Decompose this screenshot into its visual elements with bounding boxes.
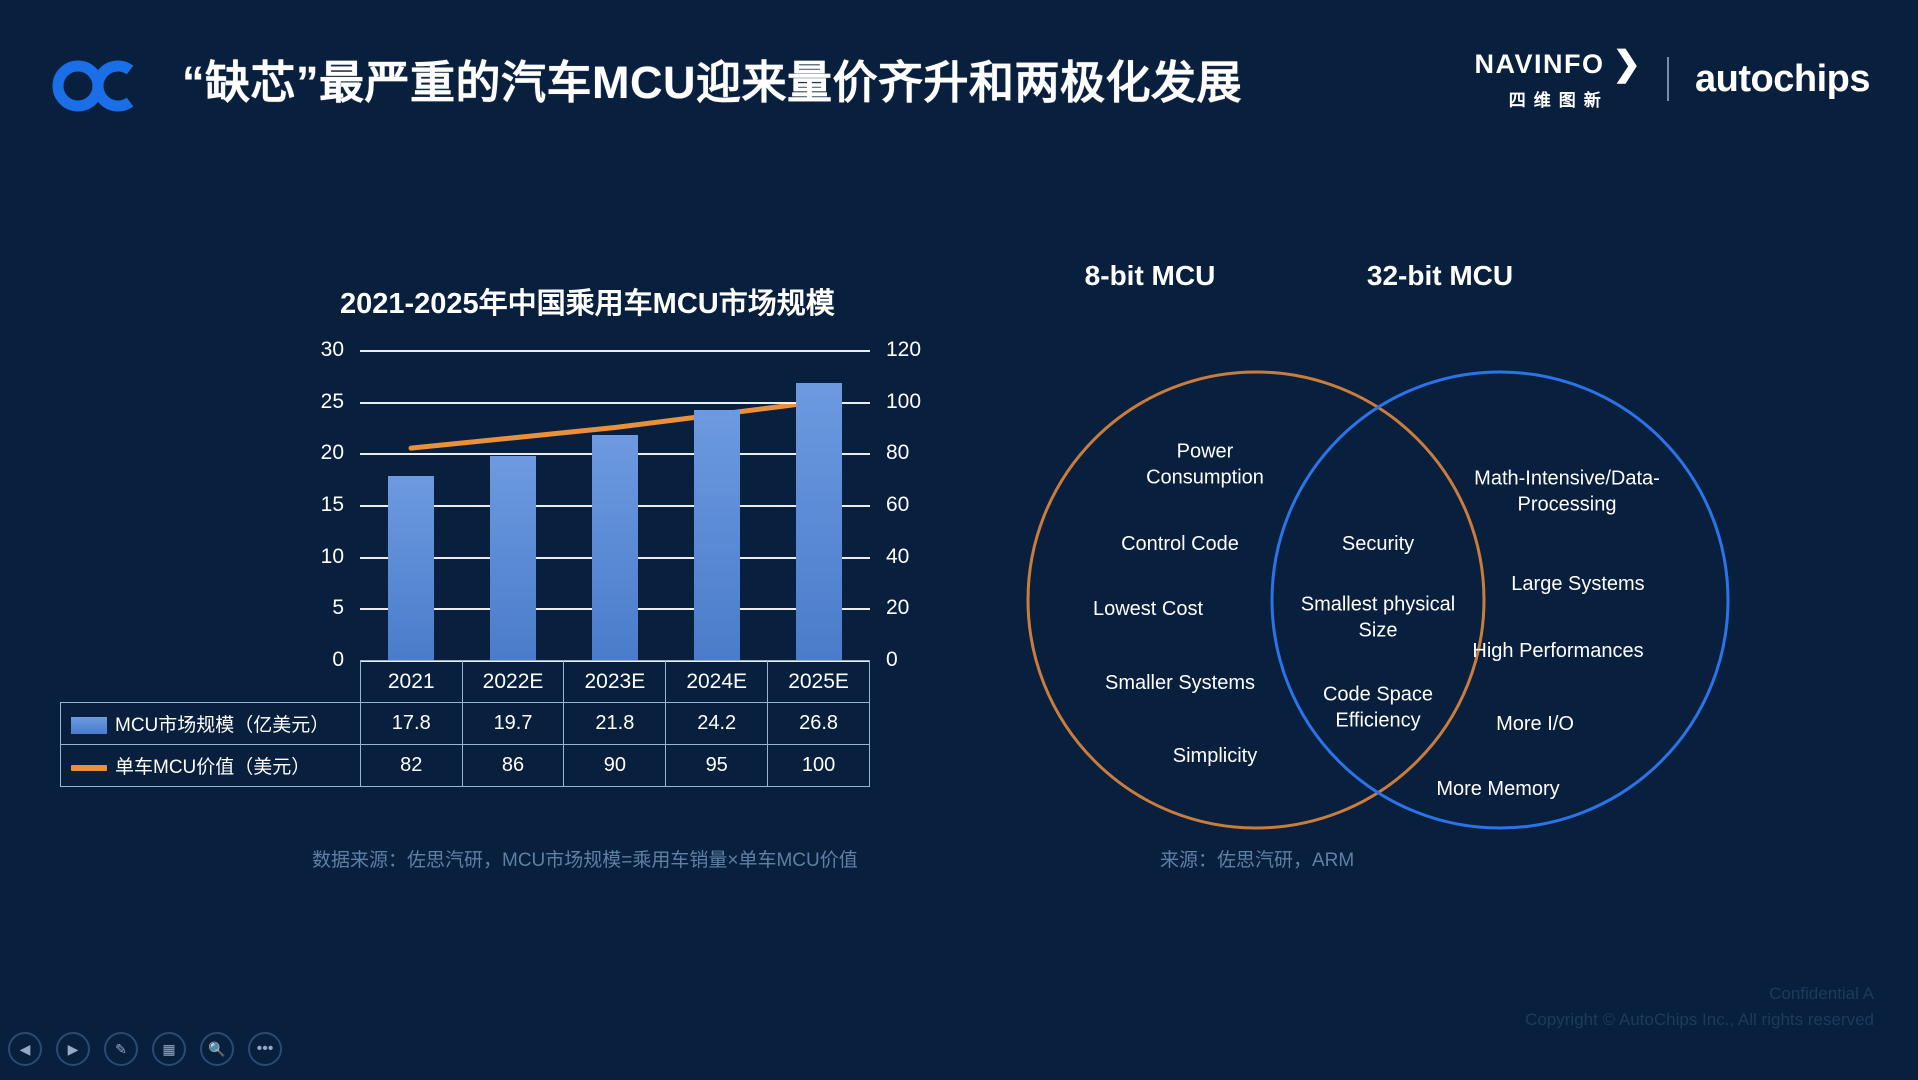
- table-cell: 26.8: [768, 703, 870, 745]
- chart-gridline: [360, 402, 870, 404]
- table-row: 单车MCU价值（美元）82869095100: [61, 745, 870, 787]
- venn-source-note: 来源：佐思汽研，ARM: [1160, 845, 1354, 872]
- venn-left-item-2: Lowest Cost: [1053, 597, 1243, 623]
- table-row-label: MCU市场规模（亿美元）: [61, 703, 361, 745]
- y-axis-left-tick: 20: [321, 441, 344, 465]
- table-column-header: 2025E: [768, 661, 870, 703]
- navinfo-logo: NAVINFO ❯ 四维图新: [1475, 47, 1642, 111]
- venn-left-item-0: PowerConsumption: [1110, 439, 1300, 490]
- table-column-header: 2023E: [564, 661, 666, 703]
- venn-left-item-1: Control Code: [1085, 532, 1275, 558]
- chart-bar: [592, 435, 638, 660]
- zoom-search-icon[interactable]: 🔍: [200, 1032, 234, 1066]
- table-column-header: 2022E: [462, 661, 564, 703]
- brand-logos: NAVINFO ❯ 四维图新 autochips: [1475, 48, 1870, 110]
- table-cell: 17.8: [360, 703, 462, 745]
- confidential-label: Confidential A: [1525, 981, 1874, 1007]
- footer-confidential: Confidential A Copyright © AutoChips Inc…: [1525, 981, 1874, 1032]
- chevron-right-icon: ❯: [1613, 47, 1642, 81]
- venn-center-item-1: Smallest physical Size: [1291, 592, 1466, 643]
- table-cell: 19.7: [462, 703, 564, 745]
- venn-right-item-0: Math-Intensive/Data-Processing: [1460, 466, 1675, 517]
- y-axis-right-tick: 120: [886, 338, 921, 362]
- legend-bar-swatch: [71, 717, 107, 734]
- venn-left-item-4: Simplicity: [1120, 744, 1310, 770]
- page-title: “缺芯”最严重的汽车MCU迎来量价齐升和两极化发展: [182, 46, 1242, 111]
- y-axis-right-tick: 100: [886, 390, 921, 414]
- chart-gridline: [360, 350, 870, 352]
- mcu-market-chart-panel: 2021-2025年中国乘用车MCU市场规模 30120251002080156…: [40, 260, 920, 900]
- table-corner-blank: [61, 661, 361, 703]
- navinfo-wordmark: NAVINFO: [1475, 51, 1605, 78]
- venn-right-item-3: More I/O: [1428, 712, 1643, 738]
- table-cell: 90: [564, 745, 666, 787]
- venn-right-heading: 32-bit MCU: [1290, 260, 1590, 292]
- venn-right-item-1: Large Systems: [1471, 572, 1686, 598]
- slide-canvas: “缺芯”最严重的汽车MCU迎来量价齐升和两极化发展 NAVINFO ❯ 四维图新…: [0, 0, 1918, 1080]
- table-cell: 24.2: [666, 703, 768, 745]
- table-row: MCU市场规模（亿美元）17.819.721.824.226.8: [61, 703, 870, 745]
- table-cell: 86: [462, 745, 564, 787]
- presentation-toolbar[interactable]: ◀▶✎▦🔍•••: [8, 1032, 282, 1066]
- legend-label: MCU市场规模（亿美元）: [115, 715, 329, 736]
- chart-plot-area: 301202510020801560104052000: [360, 350, 870, 660]
- y-axis-left-tick: 25: [321, 390, 344, 414]
- venn-right-item-2: High Performances: [1451, 639, 1666, 665]
- chart-bar: [490, 456, 536, 660]
- more-options-icon[interactable]: •••: [248, 1032, 282, 1066]
- table-column-header: 2021: [360, 661, 462, 703]
- pen-tool-icon[interactable]: ✎: [104, 1032, 138, 1066]
- table-cell: 95: [666, 745, 768, 787]
- y-axis-left-tick: 10: [321, 545, 344, 569]
- y-axis-left-tick: 30: [321, 338, 344, 362]
- venn-right-item-4: More Memory: [1391, 777, 1606, 803]
- y-axis-right-tick: 20: [886, 596, 909, 620]
- copyright-label: Copyright © AutoChips Inc., All rights r…: [1525, 1007, 1874, 1033]
- brand-divider: [1667, 57, 1669, 101]
- table-header-row: 20212022E2023E2024E2025E: [61, 661, 870, 703]
- venn-center-item-0: Security: [1291, 532, 1466, 558]
- chart-data-table: 20212022E2023E2024E2025EMCU市场规模（亿美元）17.8…: [60, 660, 870, 787]
- legend-label: 单车MCU价值（美元）: [115, 757, 310, 778]
- venn-diagram-panel: 8-bit MCU 32-bit MCU PowerConsumptionCon…: [1000, 260, 1900, 900]
- chart-title: 2021-2025年中国乘用车MCU市场规模: [340, 280, 835, 322]
- slide-grid-icon[interactable]: ▦: [152, 1032, 186, 1066]
- navinfo-chinese-name: 四维图新: [1509, 86, 1609, 111]
- table-cell: 21.8: [564, 703, 666, 745]
- table-column-header: 2024E: [666, 661, 768, 703]
- oc-logo-icon: [52, 58, 138, 114]
- venn-left-heading: 8-bit MCU: [1000, 260, 1300, 292]
- legend-line-swatch: [71, 765, 107, 771]
- table-cell: 82: [360, 745, 462, 787]
- y-axis-right-tick: 80: [886, 441, 909, 465]
- chart-bar: [694, 410, 740, 660]
- chart-bar: [388, 476, 434, 660]
- slide-header: “缺芯”最严重的汽车MCU迎来量价齐升和两极化发展 NAVINFO ❯ 四维图新…: [0, 0, 1918, 150]
- chart-source-note: 数据来源：佐思汽研，MCU市场规模=乘用车销量×单车MCU价值: [312, 845, 858, 872]
- table-row-label: 单车MCU价值（美元）: [61, 745, 361, 787]
- table-cell: 100: [768, 745, 870, 787]
- autochips-logo: autochips: [1695, 60, 1870, 98]
- previous-slide-icon[interactable]: ◀: [8, 1032, 42, 1066]
- y-axis-right-tick: 0: [886, 648, 898, 672]
- y-axis-right-tick: 60: [886, 493, 909, 517]
- chart-bar: [796, 383, 842, 660]
- y-axis-left-tick: 15: [321, 493, 344, 517]
- y-axis-left-tick: 5: [332, 596, 344, 620]
- y-axis-right-tick: 40: [886, 545, 909, 569]
- next-slide-icon[interactable]: ▶: [56, 1032, 90, 1066]
- venn-left-item-3: Smaller Systems: [1085, 671, 1275, 697]
